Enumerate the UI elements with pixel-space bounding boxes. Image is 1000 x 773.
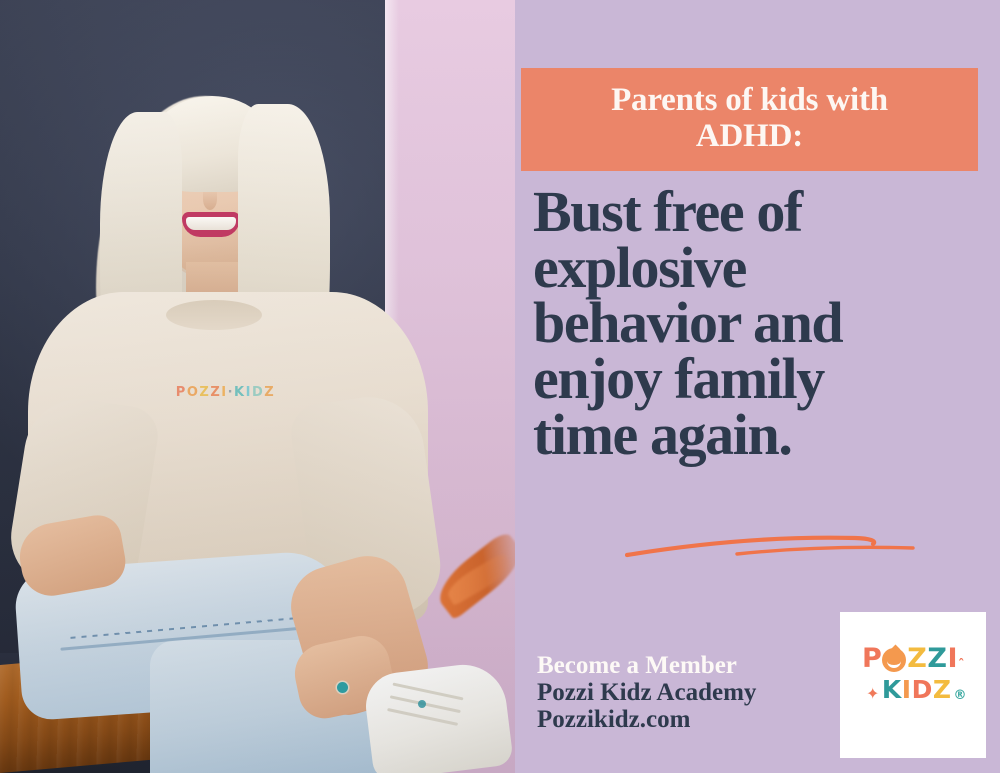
logo-dot-accent-icon — [891, 645, 901, 655]
embroidery-letter: · — [228, 385, 233, 400]
logo-letter: Z — [933, 677, 951, 702]
logo-star-icon: ✦ — [866, 686, 879, 702]
eyebrow-line-1: Parents of kids with — [531, 82, 968, 118]
sneaker — [362, 660, 514, 773]
advertisement-creative: POZZI·KIDZ Parents of kids with ADHD: Bu… — [0, 0, 1000, 773]
embroidery-letter: O — [187, 385, 199, 400]
logo-caret-icon: ˆ — [958, 659, 964, 672]
orange-swoosh-icon — [625, 530, 915, 560]
mouth-smile — [182, 212, 240, 237]
embroidery-letter: P — [176, 385, 186, 400]
logo-letter: P — [862, 645, 881, 672]
embroidery-letter: I — [221, 385, 226, 400]
teeth — [186, 217, 236, 230]
hero-photo: POZZI·KIDZ — [0, 0, 515, 773]
cta-website[interactable]: Pozzikidz.com — [537, 706, 837, 733]
sneaker-accent — [418, 700, 426, 708]
logo-letter: Z — [927, 645, 946, 672]
cta-line-1: Become a Member — [537, 652, 837, 679]
logo-letter: Z — [907, 645, 926, 672]
embroidery-letter: K — [234, 385, 245, 400]
cta-line-2: Pozzi Kidz Academy — [537, 679, 837, 706]
embroidery-letter: I — [246, 385, 251, 400]
eyebrow-banner: Parents of kids with ADHD: — [521, 68, 978, 171]
logo-letter: K — [882, 677, 901, 702]
headline-line-3: behavior and — [533, 295, 983, 351]
headline-line-2: explosive — [533, 240, 983, 296]
headline-line-5: time again. — [533, 407, 983, 463]
turquoise-ring — [337, 682, 348, 693]
pozzi-kidz-logo: PZZIˆ ✦KIDZ® — [857, 645, 969, 725]
headline-line-4: enjoy family — [533, 351, 983, 407]
embroidery-letter: Z — [199, 385, 209, 400]
person-figure: POZZI·KIDZ — [0, 0, 515, 773]
brand-logo-card[interactable]: PZZIˆ ✦KIDZ® — [840, 612, 986, 758]
embroidery-letter: Z — [264, 385, 274, 400]
sweatshirt-collar — [166, 300, 262, 330]
logo-smiley-o-icon — [882, 648, 906, 672]
logo-row-kidz: ✦KIDZ® — [857, 677, 969, 702]
copy-panel: Parents of kids with ADHD: Bust free of … — [515, 0, 1000, 773]
embroidery-letter: D — [252, 385, 263, 400]
logo-row-pozzi: PZZIˆ — [857, 645, 969, 672]
embroidery-letter: Z — [210, 385, 220, 400]
logo-letter: D — [912, 677, 932, 702]
logo-registered-icon: ® — [954, 689, 967, 702]
headline-line-1: Bust free of — [533, 184, 983, 240]
logo-letter: I — [902, 677, 911, 702]
logo-letter: I — [947, 645, 957, 672]
cta-block: Become a Member Pozzi Kidz Academy Pozzi… — [537, 652, 837, 733]
sweatshirt-logo-embroidery: POZZI·KIDZ — [150, 381, 300, 403]
eyebrow-line-2: ADHD: — [531, 118, 968, 154]
headline: Bust free of explosive behavior and enjo… — [533, 184, 983, 462]
